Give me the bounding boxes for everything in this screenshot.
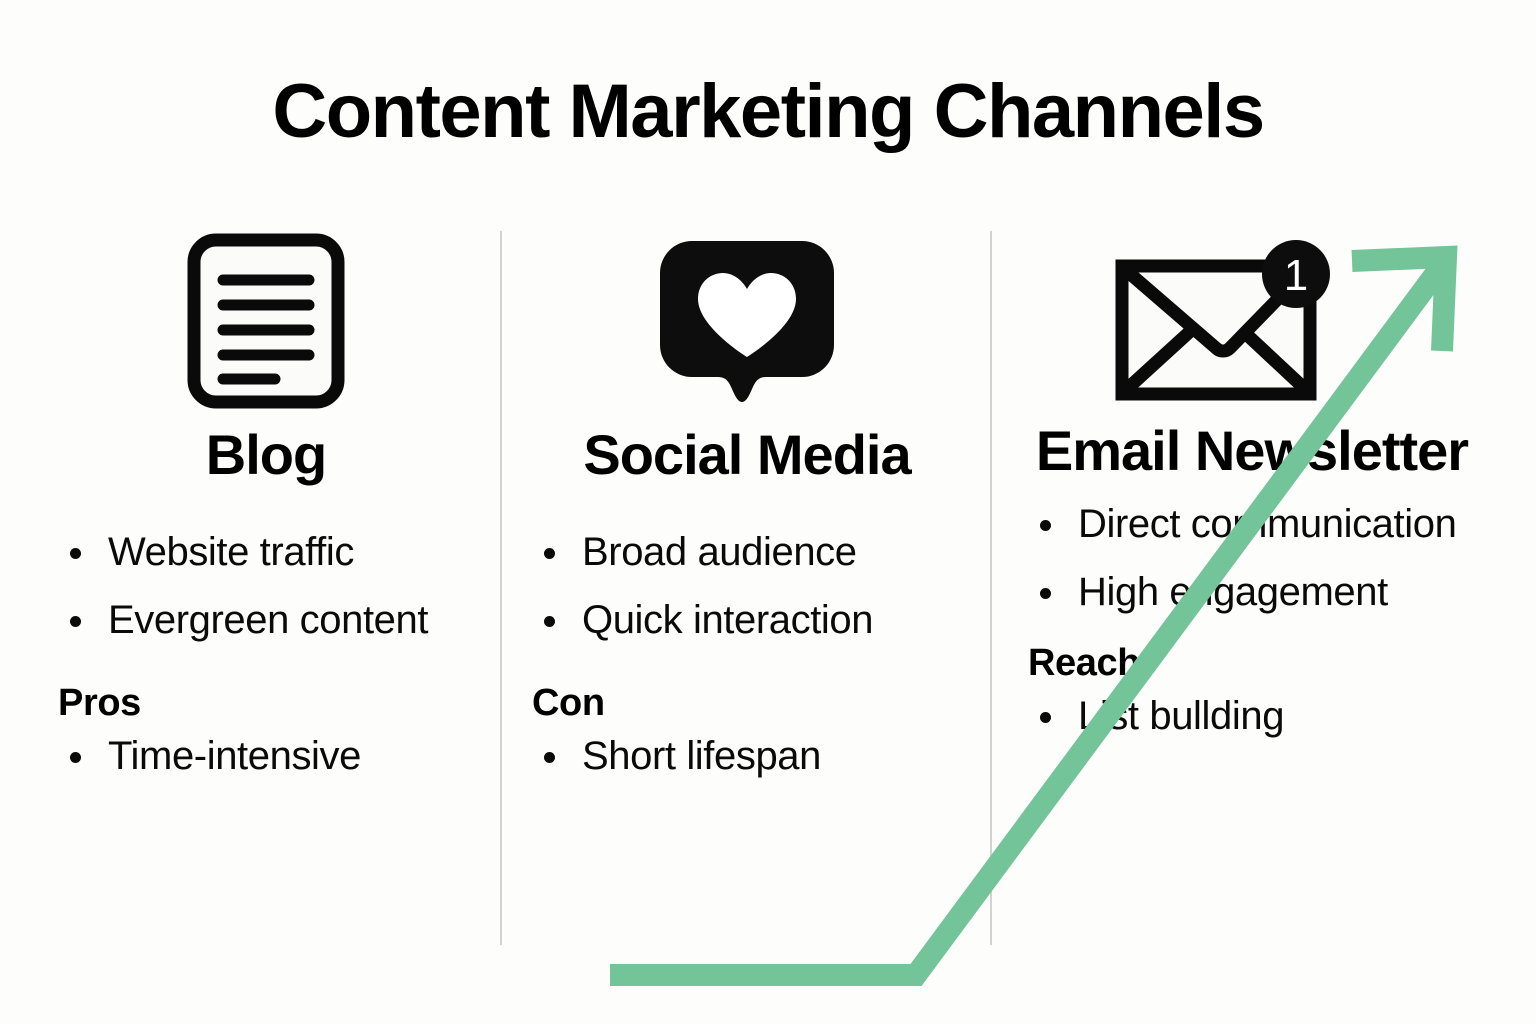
- list-item-label: Short lifespan: [582, 734, 821, 778]
- list-item: Broad audience: [532, 529, 982, 576]
- bullet-dot-icon: [1040, 588, 1051, 599]
- section-label-pros: Pros: [58, 682, 496, 725]
- channel-heading-email-newsletter: Email Newsletter: [1002, 421, 1502, 481]
- channel-column-email-newsletter: 1 Email Newsletter Direct cornmunication…: [1002, 228, 1502, 760]
- section-label-con: Con: [532, 682, 982, 725]
- blog-secondary-list: Time-intensive: [36, 733, 496, 780]
- bullet-dot-icon: [1040, 520, 1051, 531]
- channel-column-blog: Blog Website traffic Evergreen content P…: [36, 228, 496, 800]
- list-item: Website traffic: [58, 529, 496, 576]
- infographic-canvas: Content Marketing Channels Blog Website …: [0, 0, 1536, 1024]
- list-item-label: Time-intensive: [108, 734, 361, 778]
- bullet-dot-icon: [544, 752, 555, 763]
- list-item: Time-intensive: [58, 733, 496, 780]
- list-item: Short lifespan: [532, 733, 982, 780]
- section-label-reach: Reach: [1028, 642, 1502, 685]
- email-icon-container: 1: [1002, 228, 1502, 413]
- list-item-label: Broad audience: [582, 530, 857, 574]
- social-secondary-list: Short lifespan: [512, 733, 982, 780]
- list-item-label: High engagement: [1078, 570, 1388, 614]
- social-icon-container: [512, 228, 982, 413]
- list-item-label: Website traffic: [108, 530, 354, 574]
- bullet-dot-icon: [544, 616, 555, 627]
- channel-column-social-media: Social Media Broad audience Quick intera…: [512, 228, 982, 800]
- email-primary-list: Direct cornmunication High engagement: [1002, 501, 1502, 615]
- list-item: List bullding: [1028, 693, 1502, 740]
- list-item-label: Evergreen content: [108, 598, 428, 642]
- bullet-dot-icon: [70, 548, 81, 559]
- list-item: High engagement: [1028, 569, 1498, 616]
- bullet-dot-icon: [544, 548, 555, 559]
- blog-icon-container: [36, 228, 496, 413]
- bullet-dot-icon: [70, 752, 81, 763]
- list-item: Evergreen content: [58, 597, 496, 644]
- document-icon: [187, 233, 345, 409]
- email-secondary-list: List bullding: [1002, 693, 1502, 740]
- list-item: Quick interaction: [532, 597, 982, 644]
- channel-heading-blog: Blog: [36, 425, 496, 485]
- column-divider-1: [500, 231, 502, 945]
- list-item-label: List bullding: [1078, 694, 1284, 738]
- list-item-label: Quick interaction: [582, 598, 873, 642]
- bullet-dot-icon: [1040, 712, 1051, 723]
- list-item: Direct cornmunication: [1028, 501, 1498, 548]
- bullet-dot-icon: [70, 616, 81, 627]
- page-title: Content Marketing Channels: [0, 72, 1536, 152]
- heart-bubble-icon: [654, 235, 840, 407]
- list-item-label: Direct cornmunication: [1078, 502, 1456, 546]
- envelope-notification-icon: 1: [1114, 240, 1336, 402]
- notification-badge-count: 1: [1284, 251, 1308, 300]
- social-primary-list: Broad audience Quick interaction: [512, 529, 982, 643]
- blog-primary-list: Website traffic Evergreen content: [36, 529, 496, 643]
- channel-heading-social-media: Social Media: [512, 425, 982, 485]
- column-divider-2: [990, 231, 992, 945]
